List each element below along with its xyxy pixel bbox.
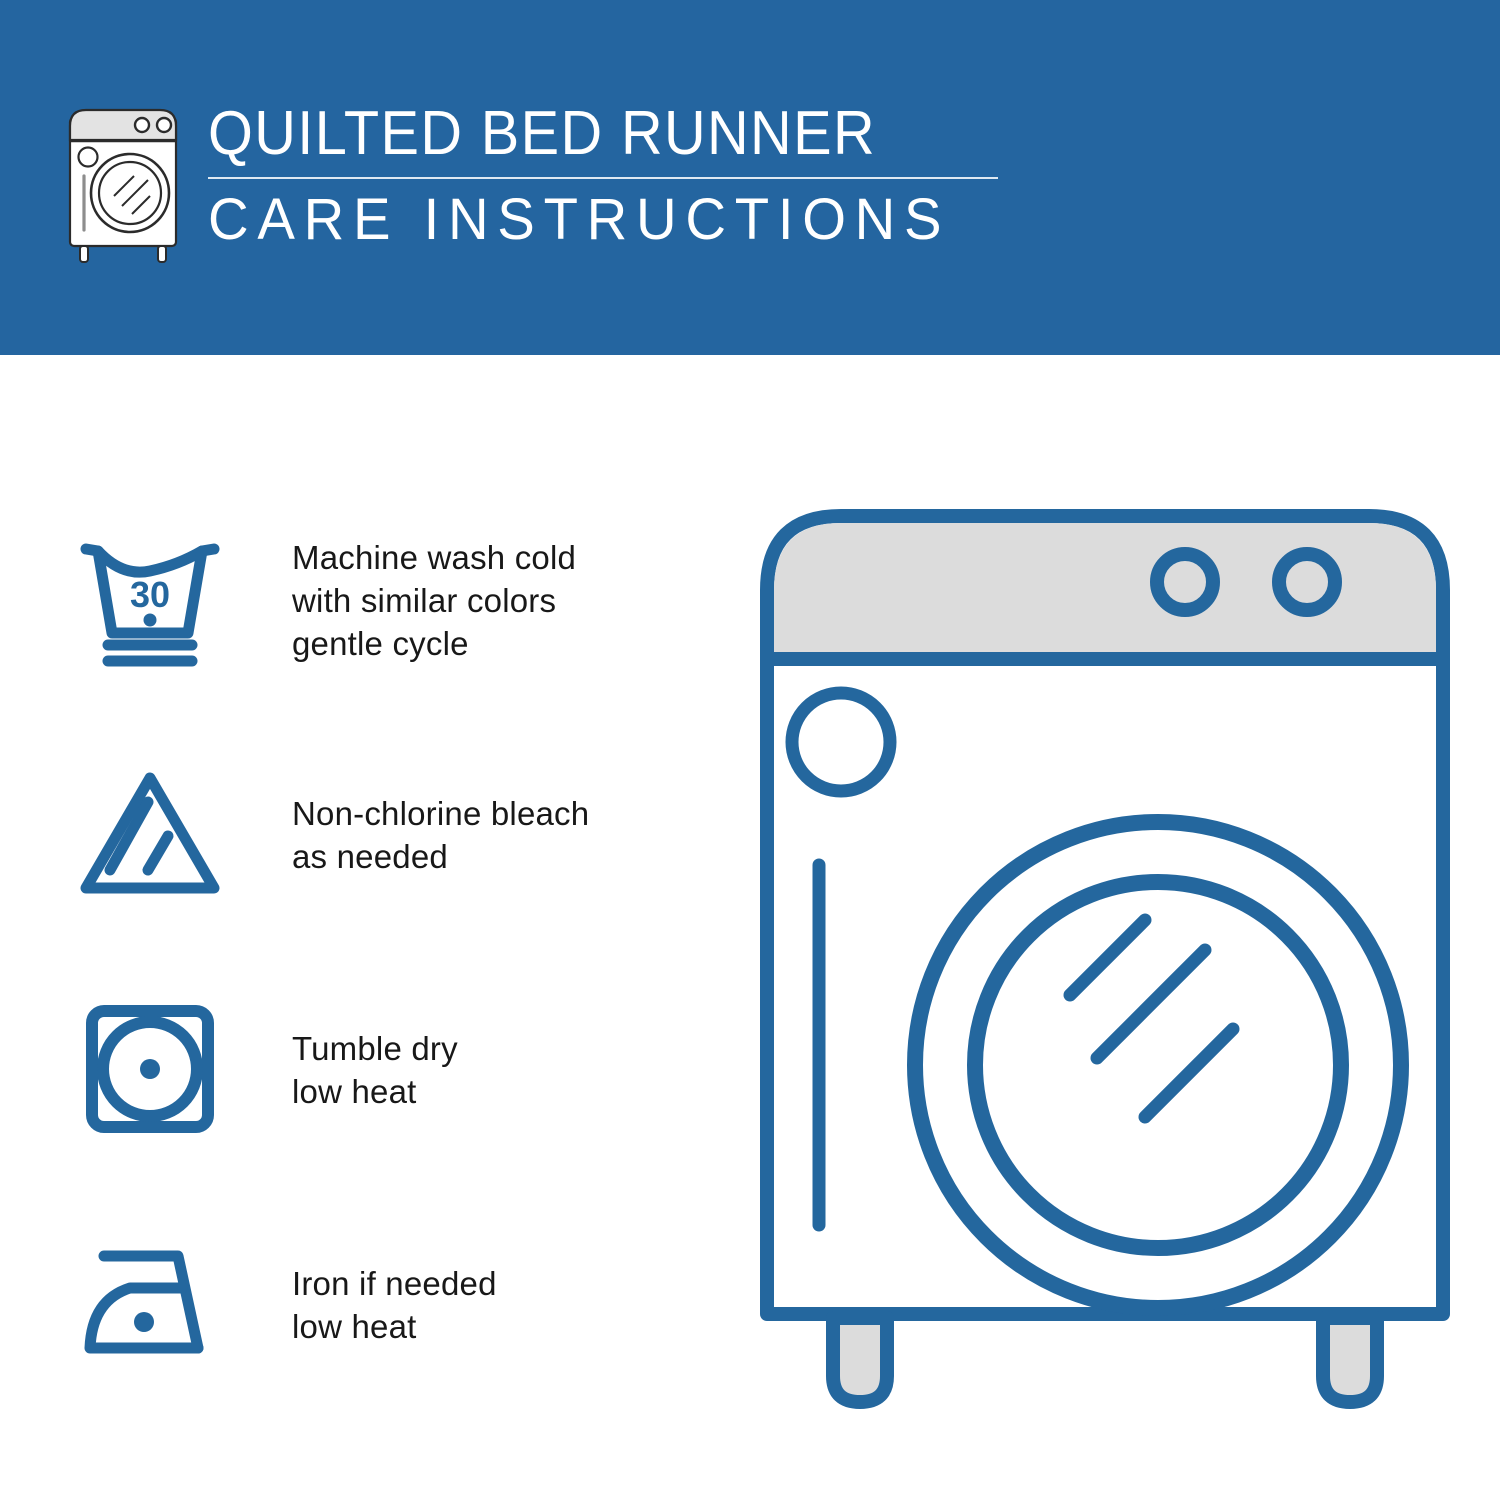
wash-tub-30-gentle-icon: 30 bbox=[70, 520, 230, 680]
care-label-bleach-line1: Non-chlorine bleach bbox=[292, 792, 690, 835]
header-text-block: QUILTED BED RUNNER CARE INSTRUCTIONS bbox=[208, 96, 1060, 252]
leg-right bbox=[1323, 1318, 1377, 1402]
care-row-tumble-dry: Tumble dry low heat bbox=[70, 970, 690, 1170]
non-chlorine-bleach-triangle-icon bbox=[70, 755, 230, 915]
header-content: QUILTED BED RUNNER CARE INSTRUCTIONS bbox=[60, 96, 1060, 276]
header-banner: QUILTED BED RUNNER CARE INSTRUCTIONS bbox=[0, 0, 1500, 355]
care-label-bleach-line2: as needed bbox=[292, 835, 690, 878]
tumble-dry-low-heat-icon bbox=[70, 990, 230, 1150]
care-label-tumble-dry-line2: low heat bbox=[292, 1070, 690, 1113]
washing-machine-icon bbox=[60, 96, 186, 268]
care-label-iron: Iron if needed low heat bbox=[292, 1262, 690, 1348]
care-label-wash-line1: Machine wash cold bbox=[292, 536, 690, 579]
wash-temp-value: 30 bbox=[130, 574, 170, 615]
care-label-tumble-dry-line1: Tumble dry bbox=[292, 1027, 690, 1070]
care-label-wash: Machine wash cold with similar colors ge… bbox=[292, 536, 690, 665]
care-label-wash-line2: with similar colors bbox=[292, 579, 690, 622]
care-label-tumble-dry: Tumble dry low heat bbox=[292, 1027, 690, 1113]
care-instructions-list: 30 Machine wash cold with similar colors… bbox=[70, 500, 690, 1440]
leg-left bbox=[833, 1318, 887, 1402]
care-label-iron-line2: low heat bbox=[292, 1305, 690, 1348]
header-divider bbox=[208, 177, 998, 179]
care-label-wash-line3: gentle cycle bbox=[292, 622, 690, 665]
care-label-iron-line1: Iron if needed bbox=[292, 1262, 690, 1305]
iron-low-heat-icon bbox=[70, 1225, 230, 1385]
care-row-wash: 30 Machine wash cold with similar colors… bbox=[70, 500, 690, 700]
care-row-bleach: Non-chlorine bleach as needed bbox=[70, 735, 690, 935]
page-title: QUILTED BED RUNNER bbox=[208, 100, 1000, 168]
care-label-bleach: Non-chlorine bleach as needed bbox=[292, 792, 690, 878]
care-row-iron: Iron if needed low heat bbox=[70, 1205, 690, 1405]
page-subtitle: CARE INSTRUCTIONS bbox=[208, 188, 1034, 252]
front-load-washing-machine-illustration bbox=[745, 480, 1465, 1430]
